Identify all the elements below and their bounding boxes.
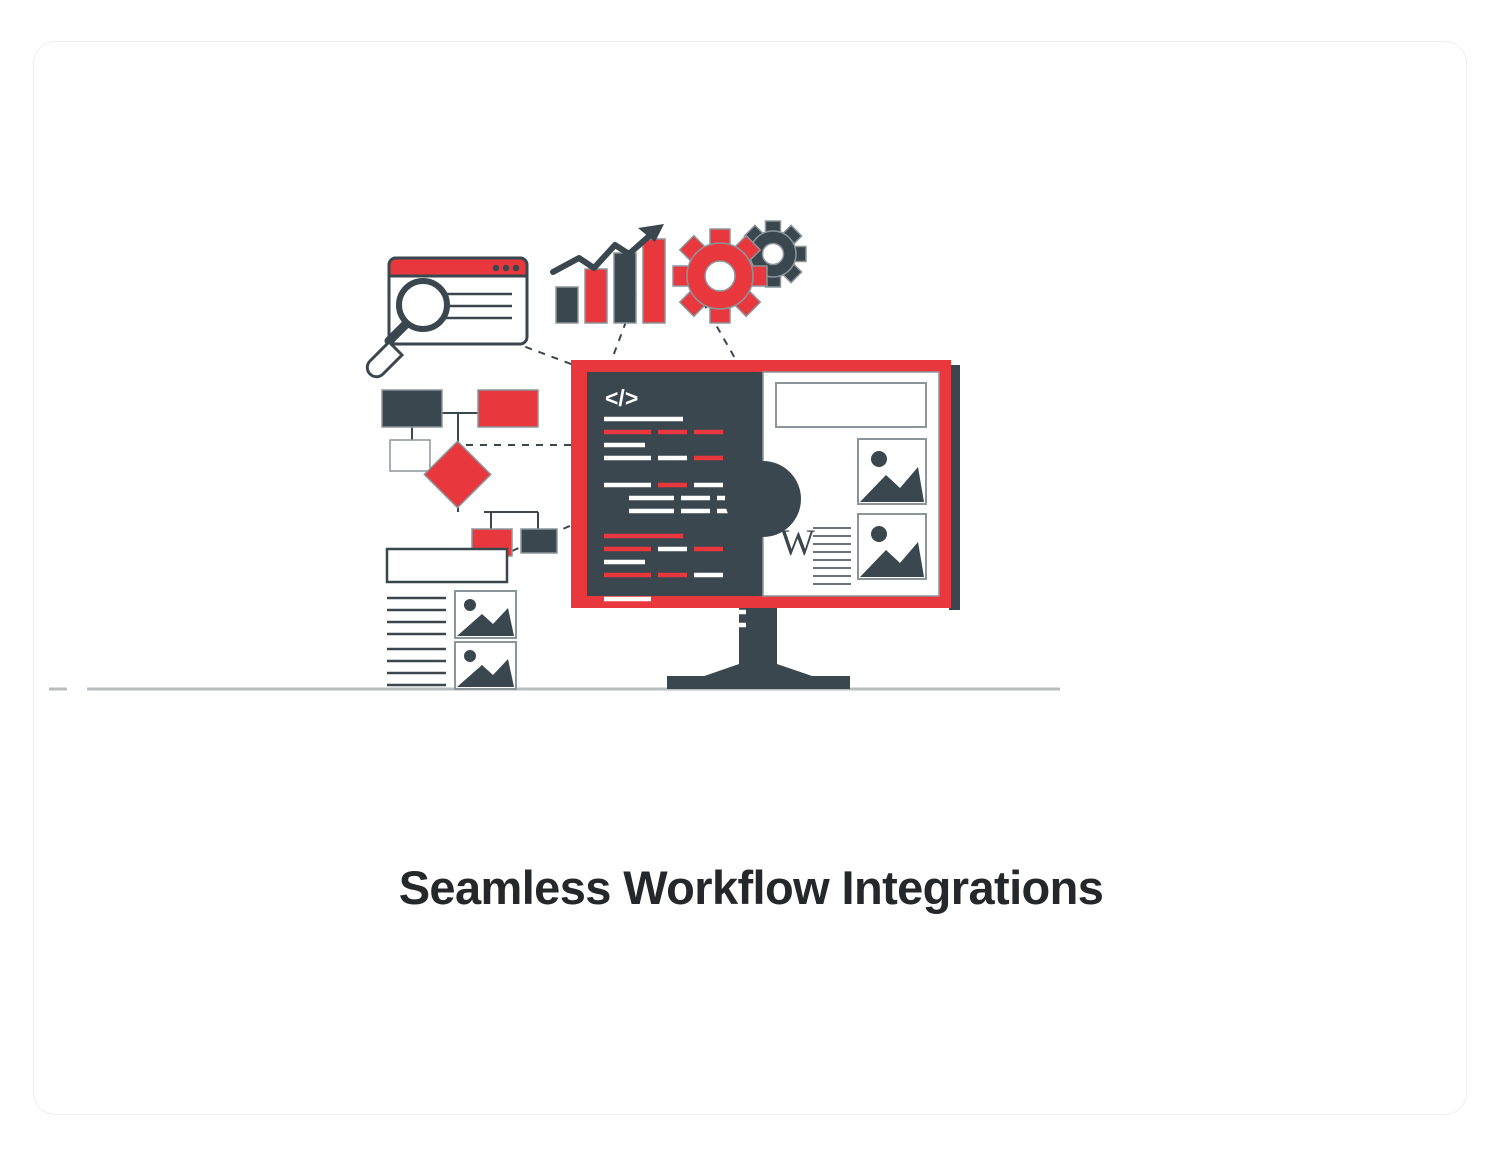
browser-dot: [493, 265, 499, 271]
flow-node: [382, 390, 442, 427]
bar-chart-growth-icon: [553, 224, 665, 323]
monitor-stand: [667, 602, 850, 689]
feature-card: </>: [33, 41, 1467, 1115]
gears-icon: [673, 221, 806, 323]
chart-bar: [643, 239, 665, 323]
flowchart-icon: [382, 390, 557, 556]
doc-text-lines: [387, 598, 446, 685]
flow-node-diamond: [424, 441, 490, 507]
page-title: Seamless Workflow Integrations: [34, 860, 1468, 916]
code-tag-label: </>: [605, 385, 638, 411]
puzzle-tab-connector: [725, 461, 801, 537]
doc-thumbnail-top: [455, 591, 516, 638]
image-thumbnail-top: [858, 439, 926, 504]
empty-header-box: [776, 383, 926, 427]
chart-bar: [585, 269, 607, 323]
flow-node: [390, 440, 430, 471]
browser-dot: [513, 265, 519, 271]
desktop-monitor: </>: [571, 360, 960, 689]
trend-arrow-line: [553, 230, 656, 272]
flow-node: [521, 529, 557, 553]
magnifier-icon: [367, 281, 447, 377]
chart-bar: [614, 253, 636, 323]
document-layout-icon: [387, 549, 516, 689]
page-root: </>: [0, 0, 1500, 1156]
doc-header-box: [387, 549, 507, 582]
browser-dot: [503, 265, 509, 271]
flow-node: [478, 390, 538, 427]
image-thumbnail-bottom: [858, 514, 926, 579]
browser-search-icon: [367, 258, 527, 377]
chart-bar: [556, 287, 578, 323]
workflow-integrations-illustration: </>: [34, 42, 1468, 802]
gear-large-red: [673, 229, 767, 323]
doc-thumbnail-bottom: [455, 642, 516, 689]
